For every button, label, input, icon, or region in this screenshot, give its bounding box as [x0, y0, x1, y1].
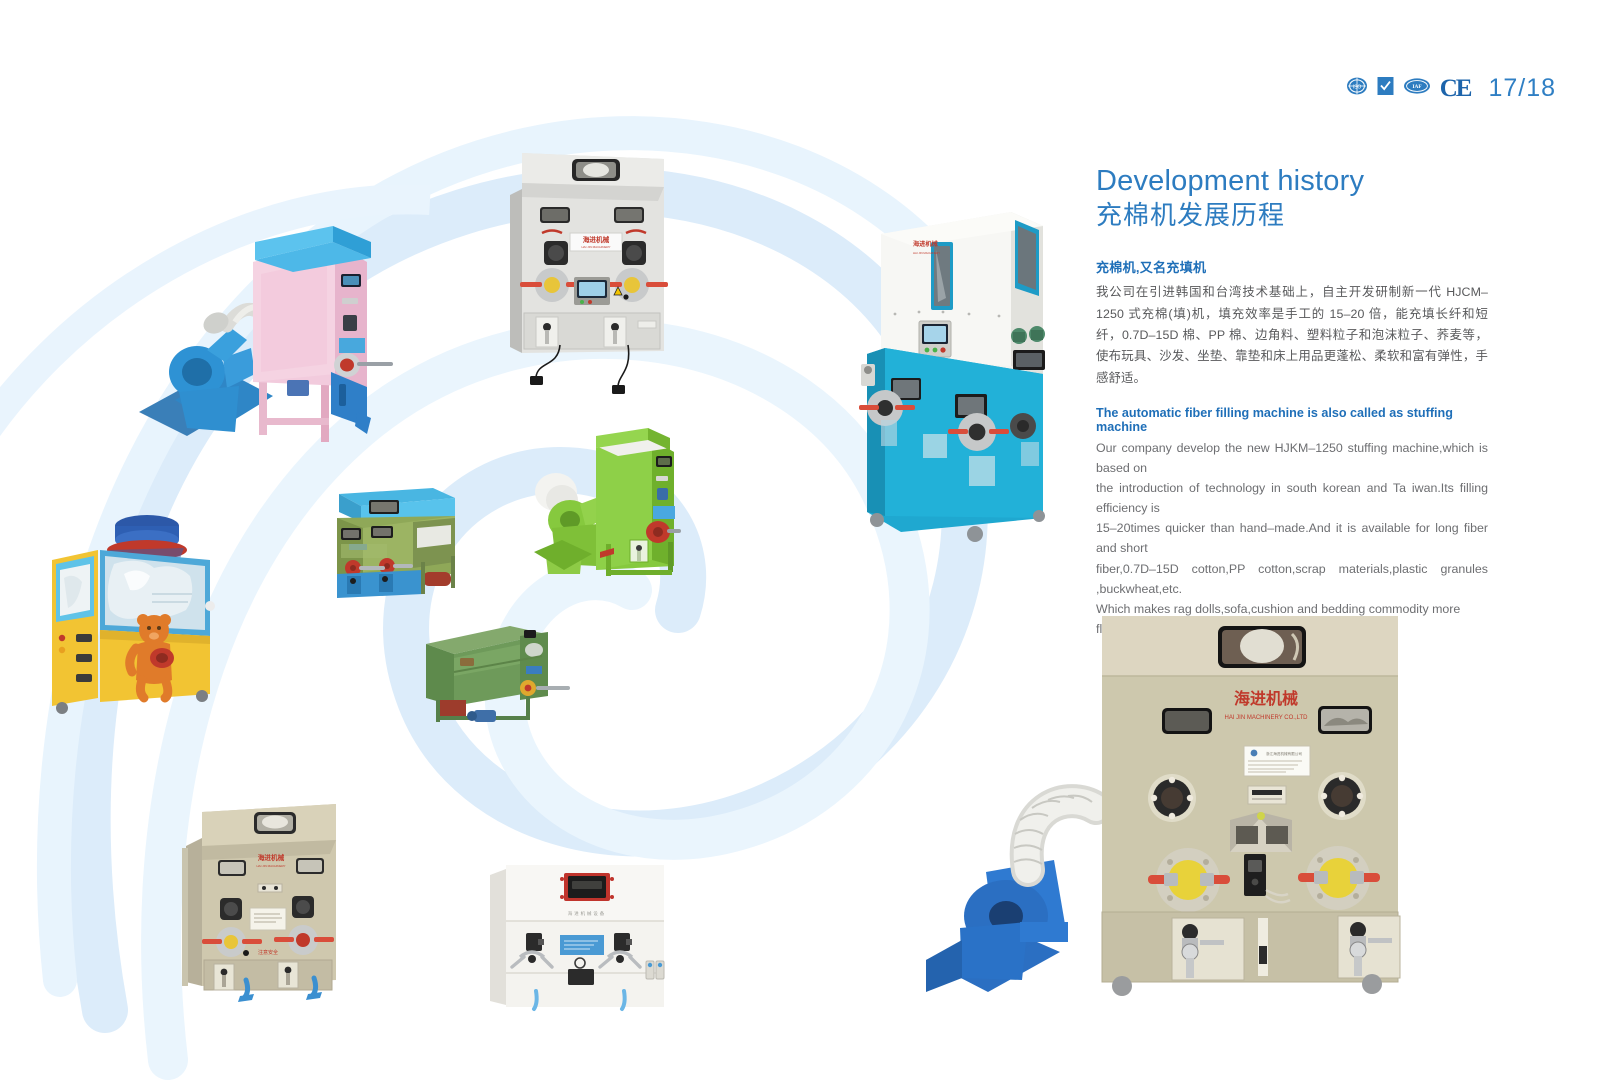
machine-cartoon-bear-machine [42, 498, 242, 720]
svg-text:海进机械: 海进机械 [913, 240, 939, 248]
page-title-chinese: 充棉机发展历程 [1096, 201, 1488, 231]
machine-beige-large-stuffing-machine: 海进机械 HAI JIN MACHINERY CO.,LTD 浙江海进机械有限公… [900, 600, 1400, 1000]
iso-cert-icon: ISO [1346, 76, 1368, 101]
ce-mark: CE [1440, 76, 1471, 101]
svg-text:HAI JIN MACHINERY: HAI JIN MACHINERY [581, 245, 610, 249]
svg-text:HAI JIN MACHINERY CO.,LTD: HAI JIN MACHINERY CO.,LTD [1224, 715, 1308, 721]
page-header: ISO IAF CE 17/18 [1346, 74, 1556, 103]
check-cert-icon [1377, 76, 1394, 101]
svg-text:海进机械设备: 海进机械设备 [568, 910, 606, 917]
brochure-page: ISO IAF CE 17/18 Development history 充棉机… [0, 0, 1600, 1092]
body-english-line: 15–20times quicker than hand–made.And it… [1096, 518, 1488, 558]
machine-pink-blue-stuffing-machine [135, 222, 400, 452]
machine-grey-dual-station-machine: 海进机械 HAI JIN MACHINERY [492, 145, 682, 395]
svg-text:ISO: ISO [1352, 84, 1361, 90]
body-chinese: 我公司在引进韩国和台湾技术基础上，自主开发研制新一代 HJCM–1250 式充棉… [1096, 282, 1488, 389]
machine-green-blue-opener-machine [305, 482, 480, 602]
machine-beige-dual-station-machine: 海进机械 HAI JIN MACHINERY 注意安全 [178, 790, 358, 998]
body-english-line: fiber,0.7D–15D cotton,PP cotton,scrap ma… [1096, 559, 1488, 599]
iaf-cert-icon: IAF [1403, 76, 1431, 101]
body-english-line: the introduction of technology in south … [1096, 478, 1488, 518]
svg-text:海进机械: 海进机械 [258, 853, 285, 862]
machine-blue-white-tall-machine: 海进机械 HAI JIN MACHINERY [843, 198, 1063, 538]
body-english-line: Our company develop the new HJKM–1250 st… [1096, 438, 1488, 478]
svg-text:海进机械: 海进机械 [583, 235, 610, 244]
svg-text:HAI JIN MACHINERY: HAI JIN MACHINERY [256, 864, 285, 868]
svg-text:IAF: IAF [1412, 84, 1422, 90]
machine-green-blower-machine [522, 424, 682, 604]
text-column: Development history 充棉机发展历程 充棉机,又名充填机 我公… [1096, 165, 1488, 639]
svg-text:注意安全: 注意安全 [258, 949, 278, 956]
machine-white-dual-station-machine: 海进机械设备 [484, 855, 674, 1015]
page-title-english: Development history [1096, 165, 1488, 197]
page-number: 17/18 [1488, 74, 1556, 103]
machine-green-long-carding-machine [414, 614, 574, 732]
subtitle-english: The automatic fiber filling machine is a… [1096, 406, 1488, 434]
subtitle-chinese: 充棉机,又名充填机 [1096, 257, 1488, 276]
svg-text:海进机械: 海进机械 [1234, 689, 1298, 708]
svg-text:HAI JIN MACHINERY: HAI JIN MACHINERY [913, 251, 940, 255]
svg-text:浙江海进机械有限公司: 浙江海进机械有限公司 [1266, 751, 1302, 756]
